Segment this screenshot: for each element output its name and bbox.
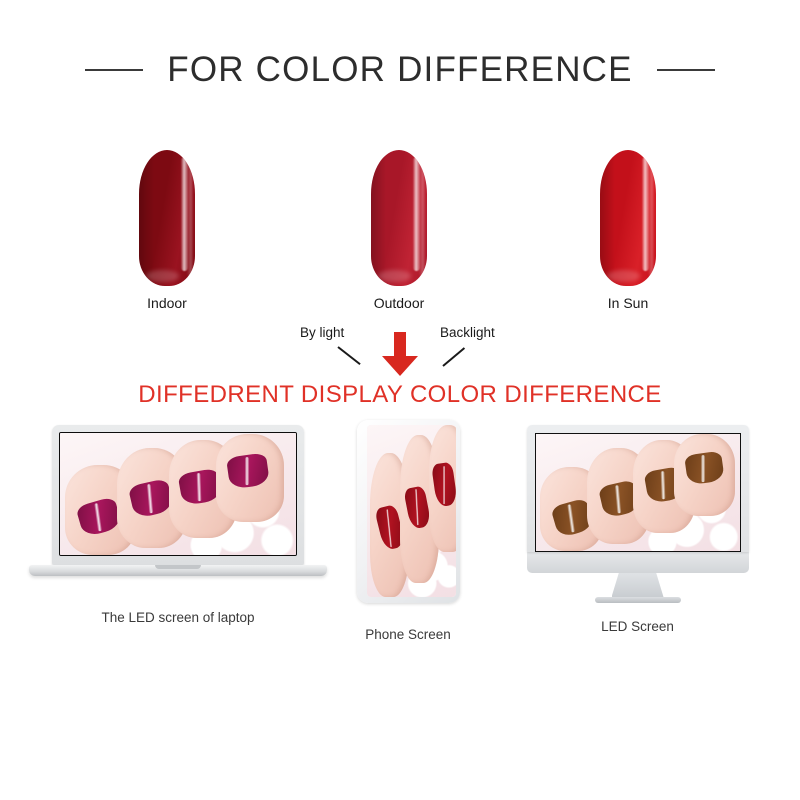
photo-nail-shine <box>443 465 445 503</box>
monitor-stand-foot <box>595 597 681 603</box>
title-rule-left <box>85 69 143 71</box>
tip-shine-icon <box>607 270 641 282</box>
tip-shine-icon <box>378 270 412 282</box>
device-laptop: The LED screen of laptop <box>28 425 328 625</box>
monitor-screen <box>535 433 741 552</box>
nail-swatch-in-sun <box>600 150 656 286</box>
laptop-screen <box>59 432 297 556</box>
page-header: FOR COLOR DIFFERENCE <box>0 46 800 94</box>
device-comparison-row: The LED screen of laptop Phone Screen LE… <box>0 425 800 640</box>
page-title: FOR COLOR DIFFERENCE <box>167 50 632 90</box>
swatch-group-in-sun: In Sun <box>548 150 708 311</box>
tip-shine-icon <box>146 270 180 282</box>
laptop-base <box>29 565 327 576</box>
photo-nail-shine <box>415 489 419 525</box>
nail-photo-phone <box>367 425 456 597</box>
nail-photo-laptop <box>60 433 296 555</box>
photo-nail-shine <box>615 485 621 513</box>
photo-nail-shine <box>386 509 392 547</box>
swatch-group-outdoor: Outdoor <box>319 150 479 311</box>
photo-nail-shine <box>197 473 202 501</box>
nail-swatch-outdoor <box>371 150 427 286</box>
photo-nail-shine <box>567 504 575 532</box>
gloss-edge-icon <box>187 154 192 276</box>
down-arrow-icon <box>379 332 421 376</box>
monitor-chin <box>527 552 749 573</box>
nail-photo-monitor <box>536 434 740 551</box>
device-monitor: LED Screen <box>520 425 755 634</box>
nail-swatch-indoor <box>139 150 195 286</box>
phone-screen <box>367 425 456 597</box>
monitor-panel <box>527 425 749 552</box>
color-difference-callout: DIFFEDRENT DISPLAY COLOR DIFFERENCE <box>0 381 800 409</box>
phone-body <box>357 420 460 603</box>
swatch-group-indoor: Indoor <box>87 150 247 311</box>
photo-nail-shine <box>146 484 153 513</box>
monitor-stand-neck <box>612 573 664 597</box>
device-caption-phone: Phone Screen <box>338 627 478 642</box>
laptop-lid <box>52 425 304 565</box>
title-rule-right <box>657 69 715 71</box>
photo-nail-shine <box>244 457 248 485</box>
photo-nail-shine <box>702 455 706 482</box>
nail-shade <box>139 150 154 286</box>
gloss-edge-icon <box>648 154 653 276</box>
nail-swatch-row: Indoor Outdoor In Sun By light Backlight <box>0 150 800 325</box>
nail-shade <box>371 150 386 286</box>
swatch-label-indoor: Indoor <box>87 295 247 311</box>
nail-shade <box>600 150 615 286</box>
photo-nail-shine <box>94 503 102 531</box>
device-caption-monitor: LED Screen <box>520 619 755 634</box>
swatch-label-outdoor: Outdoor <box>319 295 479 311</box>
arrow-container <box>0 332 800 376</box>
photo-nail-shine <box>661 471 666 499</box>
laptop-notch <box>155 565 201 569</box>
device-caption-laptop: The LED screen of laptop <box>28 610 328 625</box>
device-phone: Phone Screen <box>338 420 478 642</box>
gloss-edge-icon <box>419 154 424 276</box>
swatch-label-in-sun: In Sun <box>548 295 708 311</box>
